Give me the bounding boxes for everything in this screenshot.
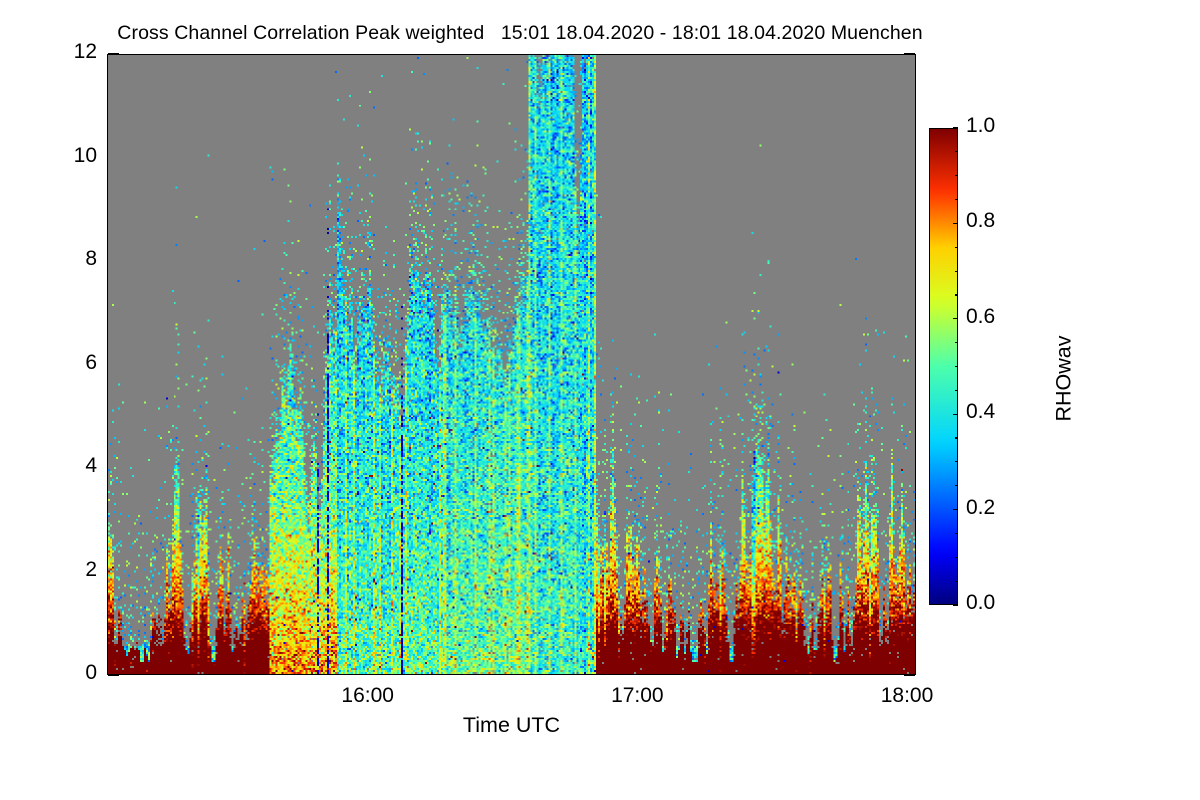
- colorbar-tick-minor: [955, 390, 958, 391]
- colorbar-tick-minor: [955, 557, 958, 558]
- colorbar-tick-label: 1.0: [966, 114, 995, 138]
- y-tick-label: 2: [41, 558, 97, 582]
- colorbar-tick-minor: [955, 581, 958, 582]
- figure-root: Cross Channel Correlation Peak weighted …: [0, 0, 1200, 800]
- x-tick-label: 18:00: [847, 684, 967, 708]
- colorbar-tick-minor: [955, 294, 958, 295]
- colorbar-label: RHOwav: [1052, 335, 1077, 421]
- colorbar-tick-minor: [955, 175, 958, 176]
- colorbar-tick-minor: [955, 247, 958, 248]
- colorbar-tick-label: 0.0: [966, 591, 995, 615]
- colorbar[interactable]: [929, 128, 958, 605]
- colorbar-tick-mark: [953, 509, 958, 510]
- colorbar-tick-mark: [953, 223, 958, 224]
- colorbar-tick-minor: [955, 271, 958, 272]
- colorbar-tick-minor: [955, 485, 958, 486]
- colorbar-tick-minor: [955, 342, 958, 343]
- y-tick-label: 12: [41, 40, 97, 64]
- colorbar-tick-mark: [953, 414, 958, 415]
- colorbar-tick-label: 0.4: [966, 400, 995, 424]
- colorbar-tick-minor: [955, 437, 958, 438]
- x-axis-label: Time UTC: [107, 713, 916, 738]
- y-tick-label: 0: [41, 661, 97, 685]
- heatmap-plot-area[interactable]: [107, 54, 916, 675]
- x-tick-label: 17:00: [577, 684, 697, 708]
- y-tick-label: 10: [41, 144, 97, 168]
- y-tick-label: 8: [41, 247, 97, 271]
- colorbar-tick-label: 0.6: [966, 305, 995, 329]
- colorbar-tick-label: 0.8: [966, 209, 995, 233]
- heatmap-canvas: [108, 55, 915, 674]
- y-tick-label: 6: [41, 351, 97, 375]
- colorbar-tick-minor: [955, 366, 958, 367]
- colorbar-tick-minor: [955, 533, 958, 534]
- colorbar-tick-mark: [953, 318, 958, 319]
- colorbar-tick-mark: [953, 127, 958, 128]
- colorbar-gradient: [930, 129, 957, 604]
- colorbar-tick-minor: [955, 199, 958, 200]
- y-tick-label: 4: [41, 454, 97, 478]
- page-title: Cross Channel Correlation Peak weighted …: [0, 22, 1040, 45]
- x-tick-label: 16:00: [308, 684, 428, 708]
- colorbar-tick-label: 0.2: [966, 496, 995, 520]
- colorbar-tick-minor: [955, 151, 958, 152]
- colorbar-tick-mark: [953, 604, 958, 605]
- colorbar-tick-minor: [955, 461, 958, 462]
